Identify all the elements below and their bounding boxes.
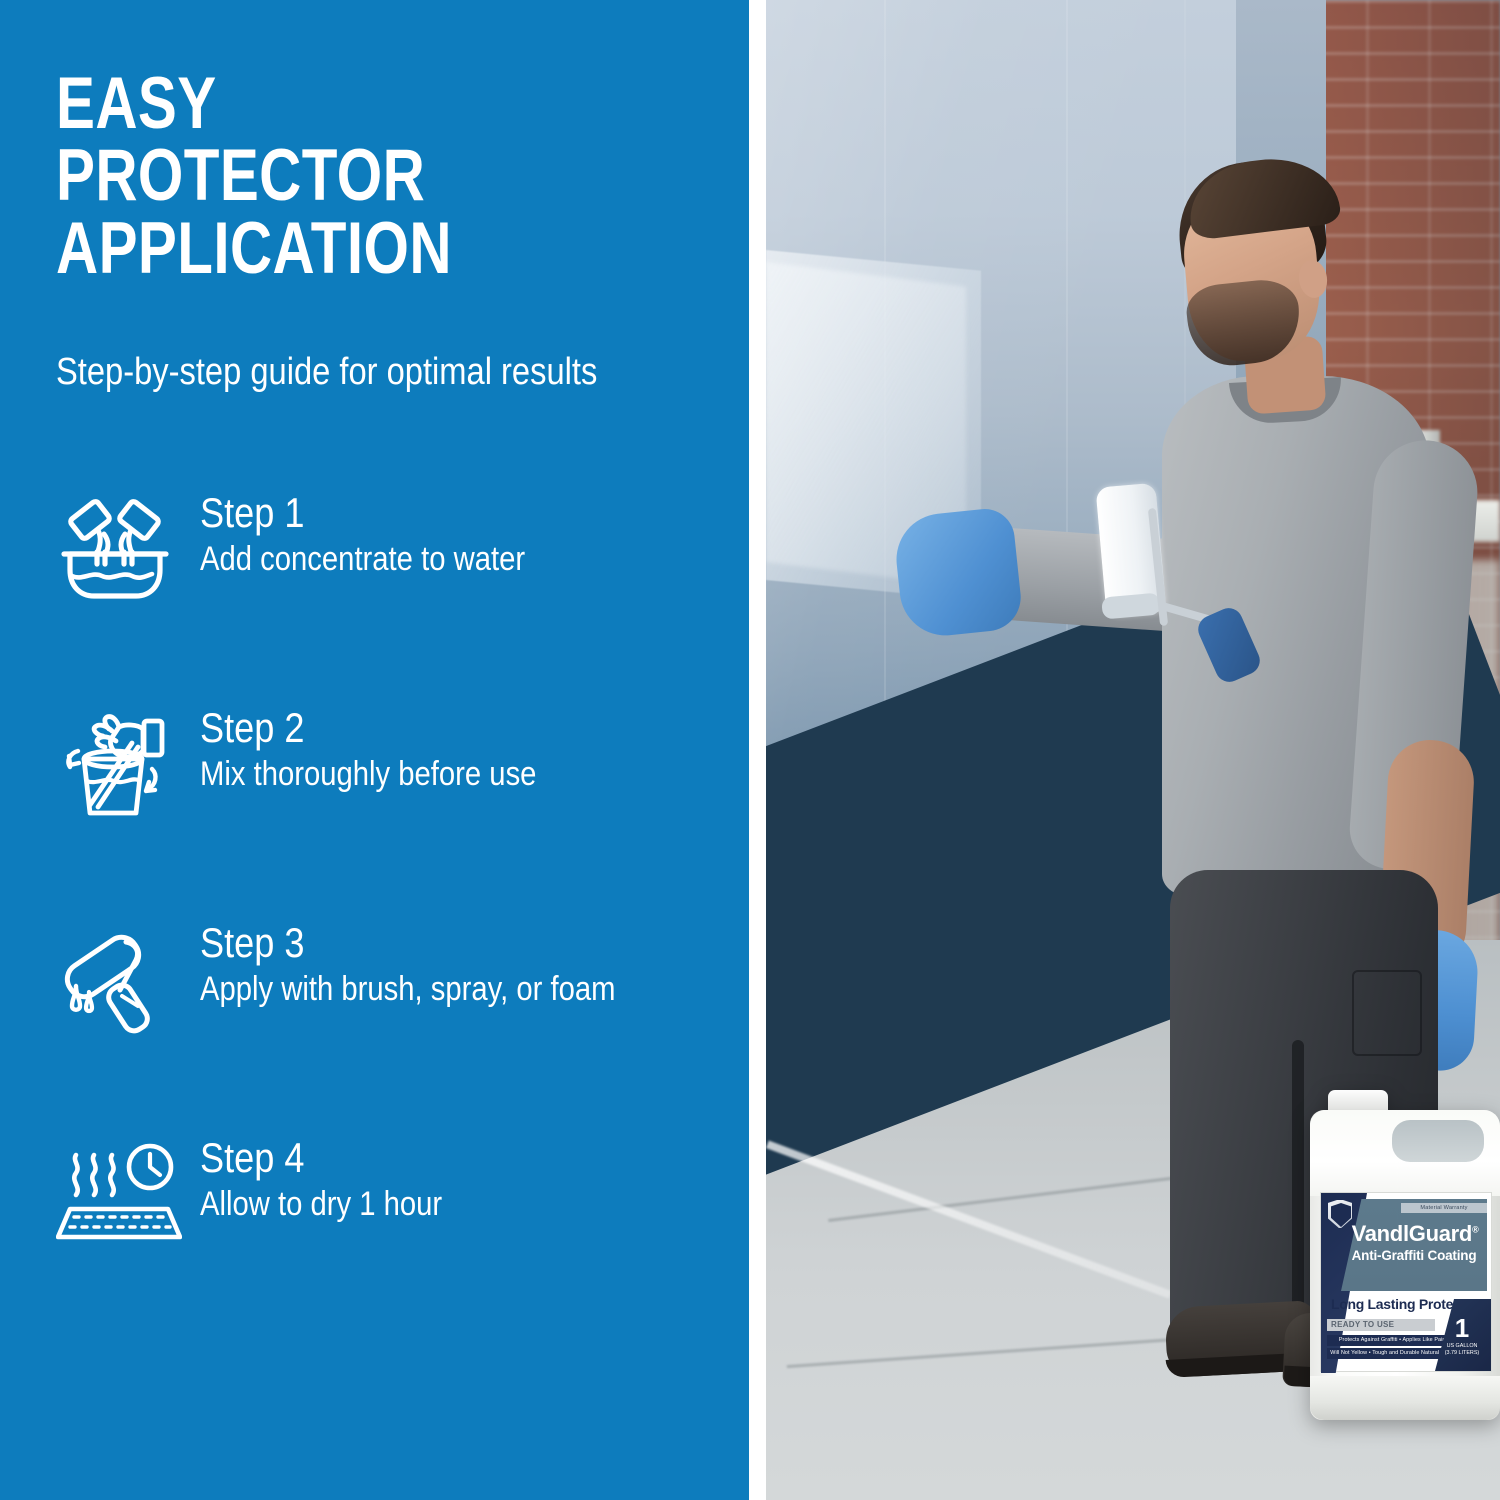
registered-mark: ® xyxy=(1472,1225,1478,1235)
product-type: Anti-Graffiti Coating xyxy=(1339,1249,1489,1263)
page-title: EASY PROTECTOR APPLICATION xyxy=(56,68,716,285)
headline-line-3: APPLICATION xyxy=(56,213,584,285)
step-4-title: Step 4 xyxy=(200,1137,442,1179)
blue-glove-left xyxy=(892,506,1024,640)
step-item-3: Step 3 Apply with brush, spray, or foam xyxy=(56,916,736,1131)
step-2-title: Step 2 xyxy=(200,707,536,749)
instructions-panel: EASY PROTECTOR APPLICATION Step-by-step … xyxy=(0,0,749,1500)
product-bottle: Material Warranty VandlGuard® Anti-Graff… xyxy=(1306,1090,1500,1420)
brand-name-text: VandlGuard xyxy=(1352,1221,1472,1246)
drying-surface-clock-icon xyxy=(56,1131,188,1251)
step-4-text: Step 4 Allow to dry 1 hour xyxy=(188,1131,482,1223)
step-3-text: Step 3 Apply with brush, spray, or foam xyxy=(188,916,683,1008)
cargo-pocket xyxy=(1352,970,1422,1056)
step-item-4: Step 4 Allow to dry 1 hour xyxy=(56,1131,736,1346)
bottle-handle-cutout xyxy=(1392,1120,1484,1162)
quantity-unit-metric: (3.79 LITERS) xyxy=(1445,1350,1479,1356)
ready-to-use-badge: READY TO USE xyxy=(1327,1319,1435,1331)
step-3-description: Apply with brush, spray, or foam xyxy=(200,972,615,1008)
quantity-units: US GALLON (3.79 LITERS) xyxy=(1435,1343,1489,1357)
application-photo: Material Warranty VandlGuard® Anti-Graff… xyxy=(766,0,1500,1500)
panel-divider xyxy=(749,0,766,1500)
headline-line-1: EASY xyxy=(56,68,584,140)
infographic-root: EASY PROTECTOR APPLICATION Step-by-step … xyxy=(0,0,1500,1500)
step-item-2: Step 2 Mix thoroughly before use xyxy=(56,701,736,916)
step-1-description: Add concentrate to water xyxy=(200,542,525,578)
step-1-title: Step 1 xyxy=(200,492,525,534)
bottle-label: Material Warranty VandlGuard® Anti-Graff… xyxy=(1320,1192,1492,1372)
step-2-description: Mix thoroughly before use xyxy=(200,757,536,793)
step-2-text: Step 2 Mix thoroughly before use xyxy=(188,701,591,793)
stir-mix-bucket-icon xyxy=(56,701,188,821)
page-subtitle: Step-by-step guide for optimal results xyxy=(56,352,597,394)
quantity-unit-imperial: US GALLON xyxy=(1447,1343,1478,1349)
quantity-number: 1 xyxy=(1445,1315,1479,1341)
brand-name: VandlGuard® xyxy=(1343,1223,1487,1245)
step-3-title: Step 3 xyxy=(200,922,615,964)
bottle-base xyxy=(1310,1376,1500,1420)
step-item-1: Step 1 Add concentrate to water xyxy=(56,486,736,701)
paint-roller-icon xyxy=(56,916,188,1036)
steps-list: Step 1 Add concentrate to water xyxy=(56,486,736,1346)
material-warranty-badge: Material Warranty xyxy=(1401,1203,1487,1213)
step-1-text: Step 1 Add concentrate to water xyxy=(188,486,578,578)
headline-line-2: PROTECTOR xyxy=(56,140,584,212)
pour-concentrate-into-bucket-icon xyxy=(56,486,188,606)
pant-leg-separation xyxy=(1292,1040,1304,1340)
step-4-description: Allow to dry 1 hour xyxy=(200,1187,442,1223)
